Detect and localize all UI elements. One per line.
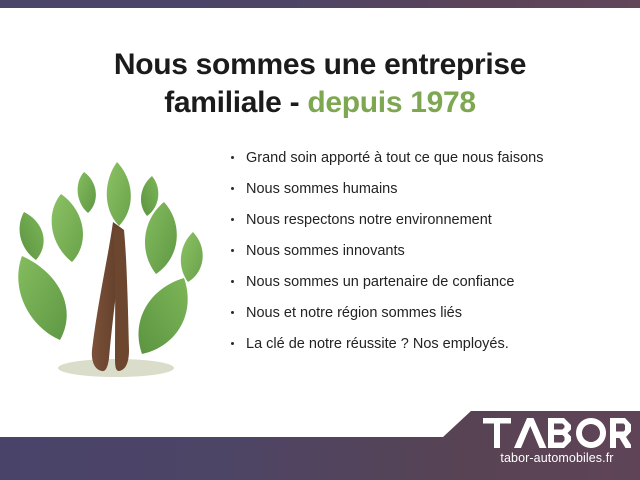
slide-canvas: Nous sommes une entreprise familiale - d… [0, 0, 640, 480]
headline-line-2: familiale - depuis 1978 [0, 84, 640, 122]
list-item: La clé de notre réussite ? Nos employés. [228, 334, 628, 354]
headline-line-1: Nous sommes une entreprise [114, 48, 526, 81]
top-accent-strip [0, 0, 640, 8]
list-item: Nous et notre région sommes liés [228, 303, 628, 323]
value-proposition-list: Grand soin apporté à tout ce que nous fa… [228, 148, 628, 365]
tree-trunk-shade [113, 226, 129, 371]
list-item: Nous sommes humains [228, 179, 628, 199]
tree-icon [12, 150, 222, 388]
list-item: Nous sommes innovants [228, 241, 628, 261]
headline-line-2-black: familiale - [164, 86, 299, 119]
page-title: Nous sommes une entreprise familiale - d… [0, 46, 640, 122]
brand-logo[interactable]: tabor-automobiles.fr [482, 418, 632, 465]
list-item: Nous sommes un partenaire de confiance [228, 272, 628, 292]
footer-bar: tabor-automobiles.fr [0, 408, 640, 480]
family-tree-illustration [12, 150, 222, 388]
list-item: Grand soin apporté à tout ce que nous fa… [228, 148, 628, 168]
tabor-wordmark-icon [483, 418, 631, 448]
list-item: Nous respectons notre environnement [228, 210, 628, 230]
headline-accent-since-1978: depuis 1978 [307, 86, 475, 119]
brand-tagline: tabor-automobiles.fr [482, 451, 632, 465]
